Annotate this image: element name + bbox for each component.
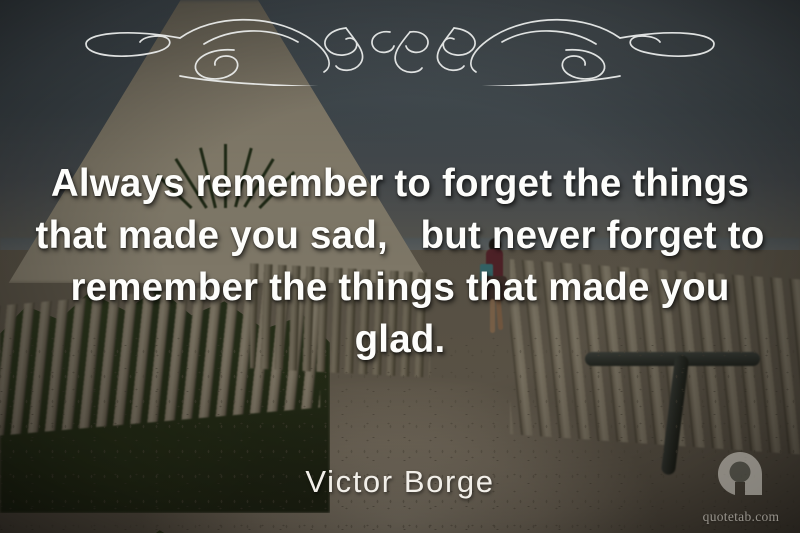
quotetab-logo-icon xyxy=(717,451,763,497)
quote-image-canvas: Always remember to forget the things tha… xyxy=(0,0,800,533)
quote-text: Always remember to forget the things tha… xyxy=(26,158,774,366)
watermark-text: quotetab.com xyxy=(695,509,787,525)
quote-author: Victor Borge xyxy=(0,464,800,500)
flourish-ornament-icon xyxy=(84,8,716,86)
quote-content: Always remember to forget the things tha… xyxy=(0,0,800,533)
watermark[interactable]: quotetab.com xyxy=(695,451,787,525)
